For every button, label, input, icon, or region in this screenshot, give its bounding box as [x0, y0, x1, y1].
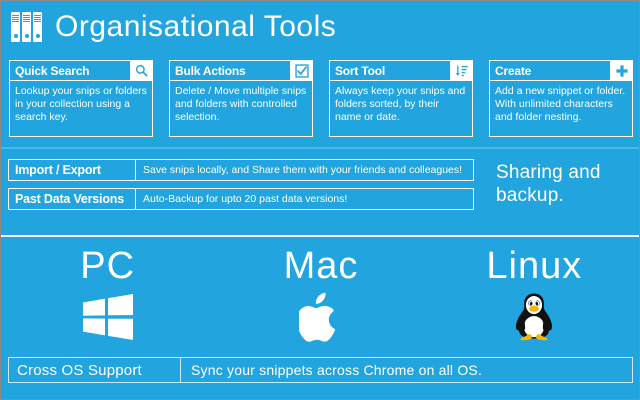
apple-logo — [299, 293, 343, 341]
checkbox-checked-icon[interactable] — [290, 61, 312, 80]
footer-label: Cross OS Support — [9, 358, 181, 382]
row-import-export[interactable]: Import / Export Save snips locally, and … — [8, 159, 474, 181]
sharing-backup-caption: Sharing and backup. — [496, 161, 636, 207]
promo-banner: Organisational Tools Quick Search Lookup… — [0, 0, 640, 400]
card-description: Always keep your snips and folders sorte… — [329, 81, 473, 137]
binder-shape — [22, 12, 31, 42]
os-label: PC — [80, 247, 135, 285]
os-column-linux: Linux — [428, 237, 640, 351]
card-title: Quick Search — [10, 61, 130, 80]
os-label: Mac — [284, 247, 359, 285]
feature-cards: Quick Search Lookup your snips or folder… — [1, 53, 640, 143]
card-header: Create — [489, 60, 633, 81]
row-description: Save snips locally, and Share them with … — [136, 160, 473, 180]
card-header: Sort Tool — [329, 60, 473, 81]
tux-penguin-logo — [510, 293, 558, 341]
os-column-mac: Mac — [214, 237, 427, 351]
binders-icon — [11, 12, 45, 42]
feature-card-create[interactable]: Create Add a new snippet or folder. With… — [481, 53, 640, 143]
card-title: Bulk Actions — [170, 61, 290, 80]
section-divider — [1, 147, 640, 149]
search-icon[interactable] — [130, 61, 152, 80]
card-header: Bulk Actions — [169, 60, 313, 81]
card-title: Sort Tool — [330, 61, 450, 80]
feature-card-quick-search[interactable]: Quick Search Lookup your snips or folder… — [1, 53, 161, 143]
feature-card-bulk-actions[interactable]: Bulk Actions Delete / Move multiple snip… — [161, 53, 321, 143]
binder-shape — [33, 12, 42, 42]
row-past-data-versions[interactable]: Past Data Versions Auto-Backup for upto … — [8, 188, 474, 210]
card-description: Delete / Move multiple snips and folders… — [169, 81, 313, 137]
card-title: Create — [490, 61, 610, 80]
row-description: Auto-Backup for upto 20 past data versio… — [136, 189, 473, 209]
card-header: Quick Search — [9, 60, 153, 81]
binder-shape — [11, 12, 20, 42]
footer-description: Sync your snippets across Chrome on all … — [181, 358, 632, 382]
header: Organisational Tools — [1, 1, 640, 53]
sharing-backup-section: Import / Export Save snips locally, and … — [1, 149, 640, 235]
sort-descending-icon[interactable] — [450, 61, 472, 80]
os-support-section: PC Mac Linux — [1, 237, 640, 351]
card-description: Lookup your snips or folders in your col… — [9, 81, 153, 137]
feature-card-sort-tool[interactable]: Sort Tool Always keep your snips and fol… — [321, 53, 481, 143]
sharing-rows: Import / Export Save snips locally, and … — [8, 159, 474, 217]
windows-logo — [81, 293, 135, 341]
card-description: Add a new snippet or folder. With unlimi… — [489, 81, 633, 137]
footer: Cross OS Support Sync your snippets acro… — [1, 351, 640, 400]
plus-icon[interactable] — [610, 61, 632, 80]
os-label: Linux — [486, 247, 582, 285]
page-title: Organisational Tools — [55, 12, 336, 42]
os-column-pc: PC — [1, 237, 214, 351]
row-label: Import / Export — [9, 160, 136, 180]
row-label: Past Data Versions — [9, 189, 136, 209]
cross-os-support-row[interactable]: Cross OS Support Sync your snippets acro… — [8, 357, 633, 383]
